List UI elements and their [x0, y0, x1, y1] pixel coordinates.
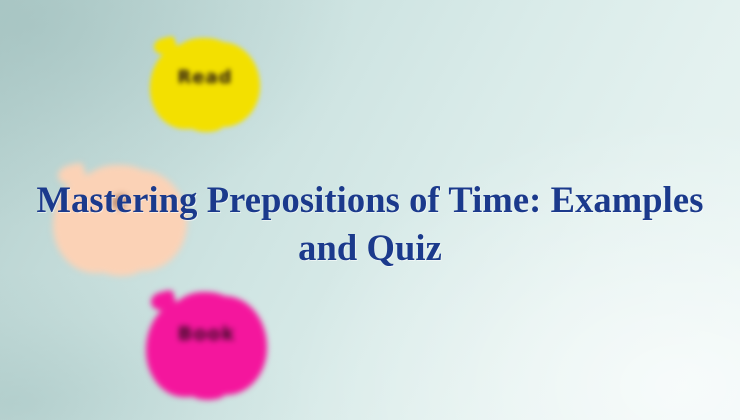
banner-image: Read a Book Mastering Prepositions of Ti… [0, 0, 740, 420]
sticky-note-read-label: Read [150, 67, 260, 88]
page-title: Mastering Prepositions of Time: Examples… [20, 176, 720, 272]
apple-dimple [190, 119, 223, 132]
sticky-note-book-label: Book [146, 323, 267, 345]
sticky-note-book: Book [146, 290, 267, 397]
apple-dimple [190, 385, 226, 400]
sticky-note-read: Read [150, 36, 260, 129]
